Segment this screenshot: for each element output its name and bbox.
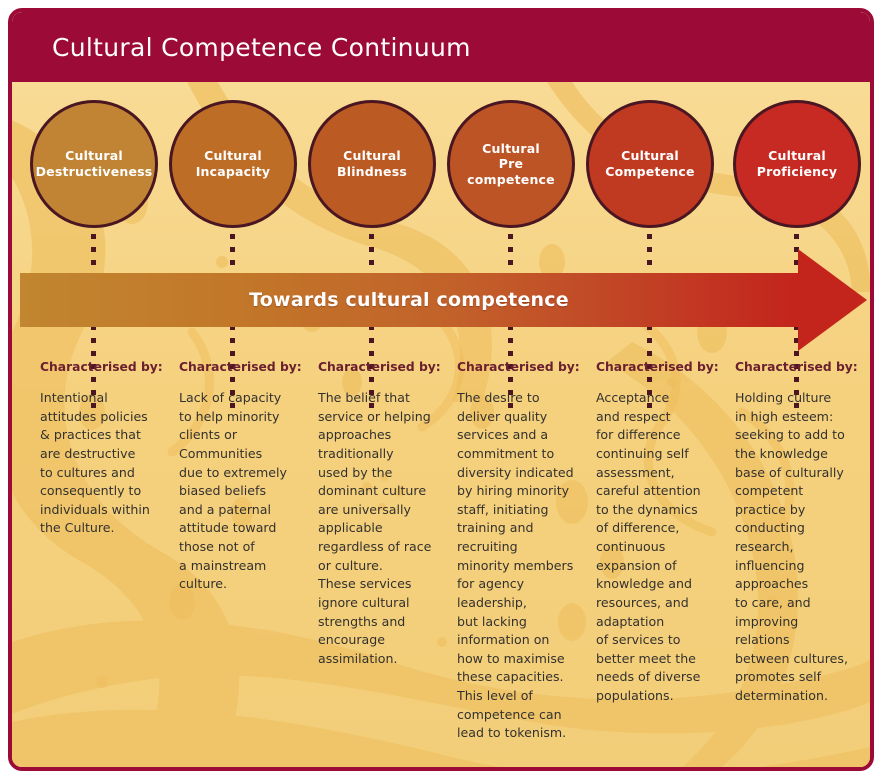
description-column-cultural-destructiveness: Characterised by: Intentional attitudes …	[40, 360, 172, 538]
column-heading: Characterised by:	[40, 360, 172, 374]
column-heading: Characterised by:	[179, 360, 311, 374]
stage-circle-cultural-proficiency[interactable]: Cultural Proficiency	[733, 100, 861, 228]
stage-title-line2: Incapacity	[190, 164, 277, 180]
stage-title-line1: Cultural	[190, 148, 277, 164]
stage-title-line2: Proficiency	[751, 164, 843, 180]
description-column-cultural-incapacity: Characterised by: Lack of capacity to he…	[179, 360, 311, 594]
stage-title-line1: Cultural	[331, 148, 413, 164]
diagram-body: Towards cultural competence Cultural Des…	[12, 82, 870, 771]
column-body: The desire to deliver quality services a…	[457, 389, 589, 743]
description-column-cultural-pre-competence: Characterised by: The desire to deliver …	[457, 360, 589, 743]
column-heading: Characterised by:	[735, 360, 867, 374]
column-body: Lack of capacity to help minority client…	[179, 389, 311, 594]
stage-title-line2: Pre competence	[450, 156, 572, 187]
stage-title-line2: Competence	[599, 164, 700, 180]
stage-title-line1: Cultural	[30, 148, 159, 164]
column-heading: Characterised by:	[457, 360, 589, 374]
description-columns: Characterised by: Intentional attitudes …	[12, 360, 870, 771]
stage-title-line1: Cultural	[751, 148, 843, 164]
column-heading: Characterised by:	[318, 360, 450, 374]
column-heading: Characterised by:	[596, 360, 728, 374]
column-body: Acceptance and respect for difference co…	[596, 389, 728, 706]
stage-title-line2: Blindness	[331, 164, 413, 180]
stage-title-line1: Cultural	[450, 141, 572, 157]
arrow-label: Towards cultural competence	[20, 273, 798, 327]
stage-title-line1: Cultural	[599, 148, 700, 164]
page-title: Cultural Competence Continuum	[12, 33, 471, 62]
stage-circle-cultural-incapacity[interactable]: Cultural Incapacity	[169, 100, 297, 228]
header-bar: Cultural Competence Continuum	[12, 12, 870, 82]
stage-title-line2: Destructiveness	[30, 164, 159, 180]
stage-circle-cultural-blindness[interactable]: Cultural Blindness	[308, 100, 436, 228]
description-column-cultural-competence: Characterised by: Acceptance and respect…	[596, 360, 728, 706]
column-body: The belief that service or helping appro…	[318, 389, 450, 668]
column-body: Holding culture in high esteem: seeking …	[735, 389, 867, 706]
description-column-cultural-proficiency: Characterised by: Holding culture in hig…	[735, 360, 867, 706]
progress-arrow: Towards cultural competence	[20, 273, 798, 327]
stage-circle-cultural-competence[interactable]: Cultural Competence	[586, 100, 714, 228]
stage-circle-cultural-destructiveness[interactable]: Cultural Destructiveness	[30, 100, 158, 228]
column-body: Intentional attitudes policies & practic…	[40, 389, 172, 538]
arrow-head-icon	[798, 249, 867, 351]
stage-circle-cultural-pre-competence[interactable]: Cultural Pre competence	[447, 100, 575, 228]
description-column-cultural-blindness: Characterised by: The belief that servic…	[318, 360, 450, 668]
infographic-card: Cultural Competence Continuum	[8, 8, 874, 771]
